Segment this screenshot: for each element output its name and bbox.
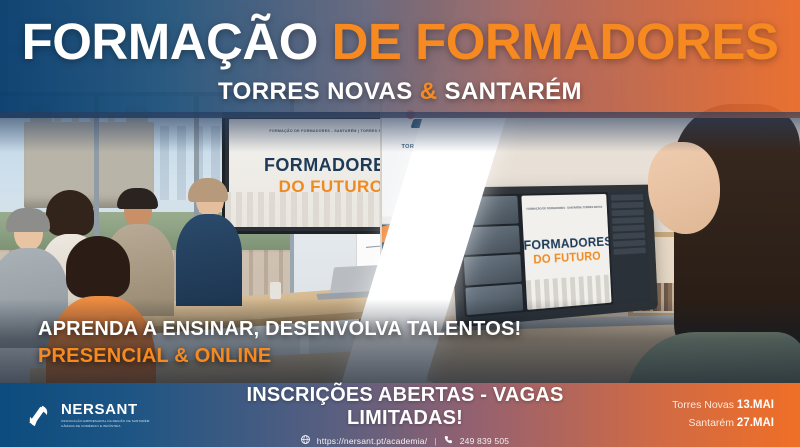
session-dates: Torres Novas 13.MAI Santarém 27.MAI [620,397,800,433]
phone-icon [444,435,453,446]
date-row: Torres Novas 13.MAI [620,397,774,415]
title-part-de-formadores: DE FORMADORES [332,13,779,70]
title-part-formacao: FORMAÇÃO [22,13,318,70]
slide-subtitle: DO FUTURO [524,250,609,267]
brand-lockup: NERSANT ASSOCIAÇÃO EMPRESARIAL DA REGIÃO… [0,400,190,430]
contact-separator: | [434,436,436,446]
brand-tagline: ASSOCIAÇÃO EMPRESARIAL DA REGIÃO DE SANT… [61,419,153,428]
contact-row: https://nersant.pt/academia/ | 249 839 5… [190,435,620,446]
nersant-logo-icon [24,400,54,430]
coffee-cup [270,282,281,299]
participant-tile [464,254,522,285]
phone-number[interactable]: 249 839 505 [460,436,509,446]
main-title: FORMAÇÃO DE FORMADORES [0,16,800,67]
cta-text: INSCRIÇÕES ABERTAS - VAGAS LIMITADAS! [190,384,620,430]
slide-eyebrow: FORMAÇÃO DE FORMADORES - SANTARÉM | TORR… [522,206,607,211]
subtitle-ampersand: & [420,78,438,105]
subtitle-torres-novas: TORRES NOVAS [218,78,413,105]
globe-icon [301,435,310,446]
website-url[interactable]: https://nersant.pt/academia/ [317,436,428,446]
tagline-block: APRENDA A ENSINAR, DESENVOLVA TALENTOS! … [38,318,521,368]
date-value: 13.MAI [737,399,774,411]
brand-text: NERSANT ASSOCIAÇÃO EMPRESARIAL DA REGIÃO… [61,402,153,428]
date-value: 27.MAI [737,417,774,429]
date-row: Santarém 27.MAI [620,415,774,433]
promotional-poster: FORMAÇÃO DE FORMADORES - SANTARÉM | TORR… [0,0,800,447]
tagline-line-1: APRENDA A ENSINAR, DESENVOLVA TALENTOS! [38,318,521,341]
date-city: Santarém [688,417,734,429]
tagline-line-2: PRESENCIAL & ONLINE [38,345,521,368]
call-to-action-block: INSCRIÇÕES ABERTAS - VAGAS LIMITADAS! ht… [190,384,620,446]
subtitle-locations: TORRES NOVAS & SANTARÉM [0,80,800,104]
brand-name: NERSANT [61,402,153,417]
date-city: Torres Novas [672,399,734,411]
footer-bar: NERSANT ASSOCIAÇÃO EMPRESARIAL DA REGIÃO… [0,383,800,447]
shared-slide: FORMAÇÃO DE FORMADORES - SANTARÉM | TORR… [521,194,611,310]
subtitle-santarem: SANTARÉM [445,78,582,105]
headline-block: FORMAÇÃO DE FORMADORES TORRES NOVAS & SA… [0,16,800,104]
